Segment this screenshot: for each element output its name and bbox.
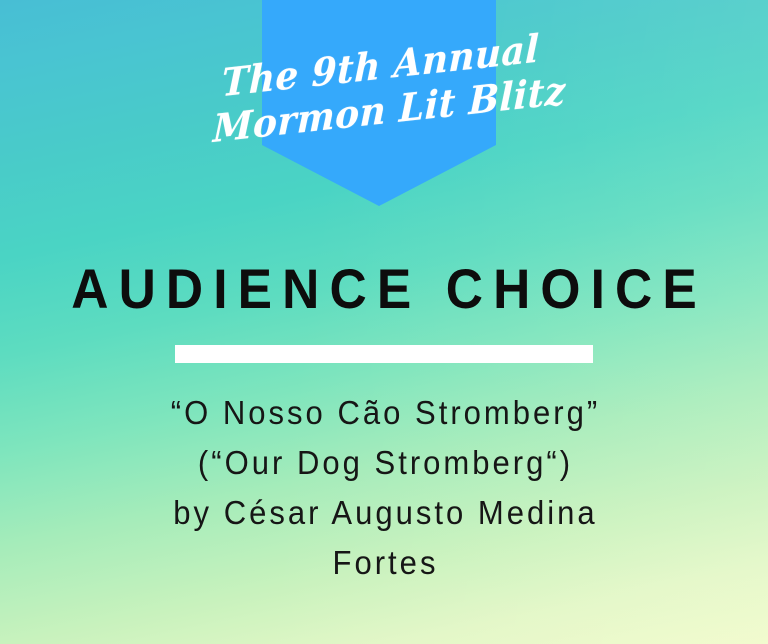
entry-title-translation: (“Our Dog Stromberg“) (61, 438, 708, 488)
entry-author-line-1: by César Augusto Medina (61, 488, 708, 538)
award-category-title: AUDIENCE CHOICE (31, 258, 738, 320)
winning-entry-credits: “O Nosso Cão Stromberg” (“Our Dog Stromb… (61, 388, 708, 588)
white-divider-bar (175, 345, 593, 363)
entry-title-original: “O Nosso Cão Stromberg” (61, 388, 708, 438)
entry-author-line-2: Fortes (61, 538, 708, 588)
award-poster: The 9th Annual Mormon Lit Blitz AUDIENCE… (0, 0, 768, 644)
blue-ribbon-banner (262, 0, 496, 206)
